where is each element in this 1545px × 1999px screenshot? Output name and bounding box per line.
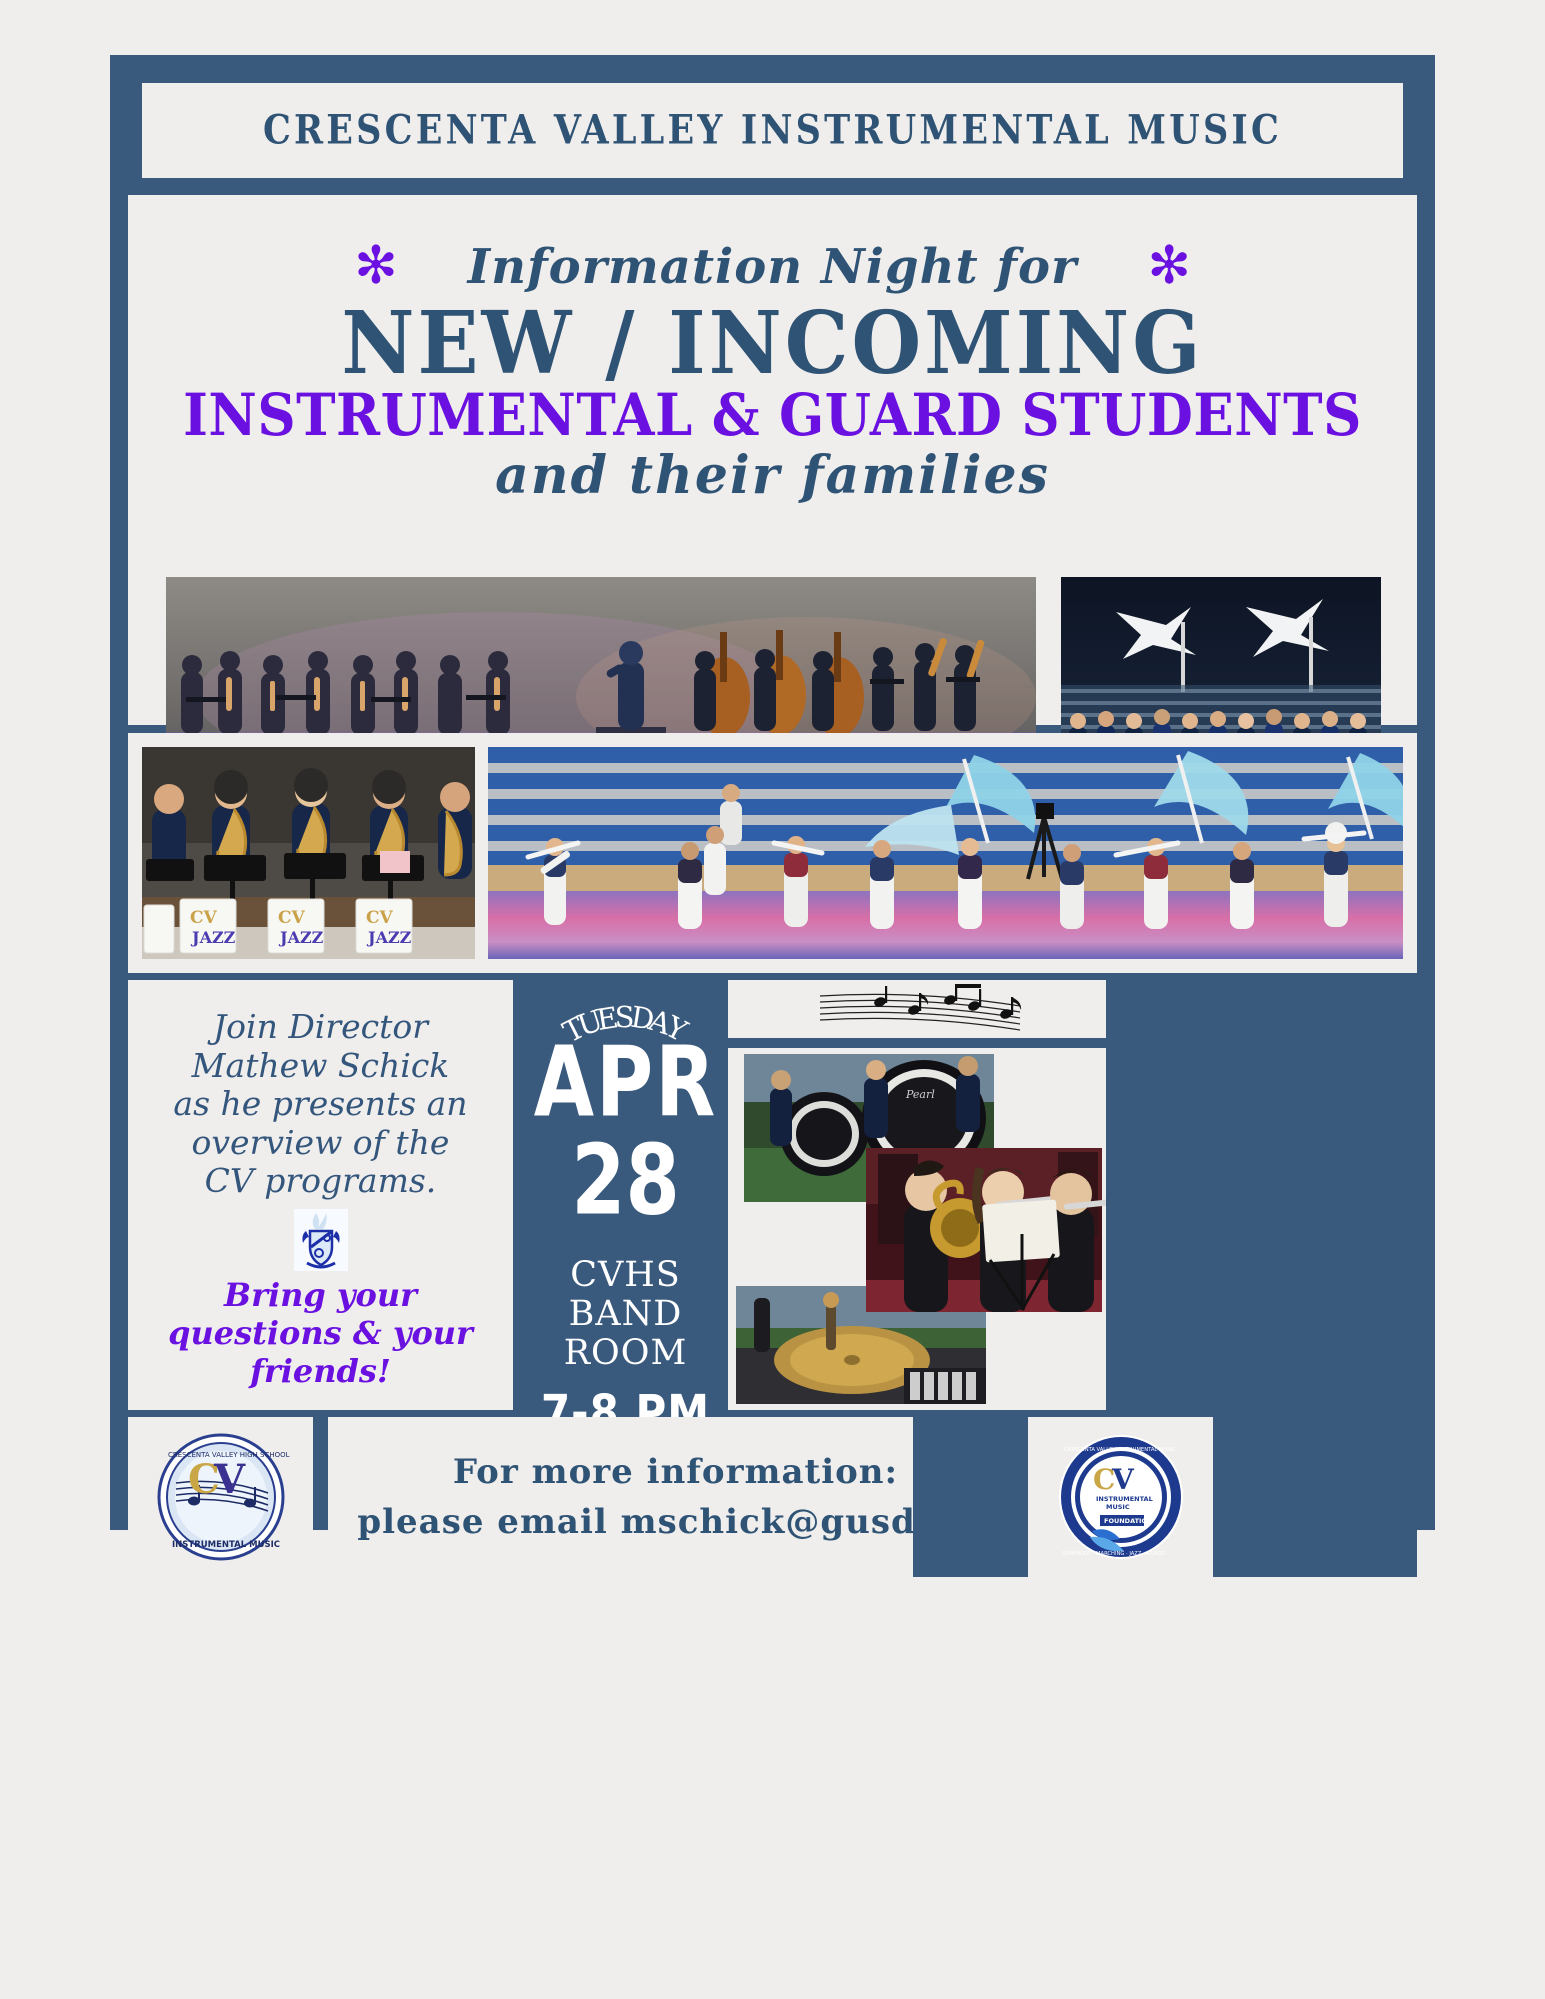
contact-line-1: For more information: xyxy=(453,1452,898,1492)
svg-text:JAZZ: JAZZ xyxy=(366,928,412,947)
join-director-block: Join Director Mathew Schick as he presen… xyxy=(128,980,513,1410)
eyebrow-text: Information Night for xyxy=(468,239,1078,295)
headline-primary: NEW / INCOMING xyxy=(128,300,1417,386)
page-title: CRESCENTA VALLEY INSTRUMENTAL MUSIC xyxy=(263,107,1282,154)
footer-right-panel: C V INSTRUMENTAL MUSIC FOUNDATION CRESCE… xyxy=(913,1417,1417,1577)
call-to-action-text: Bring your questions & your friends! xyxy=(168,1277,473,1390)
music-staff-graphic xyxy=(728,980,1106,1038)
footer: C V INSTRUMENTAL MUSIC CRESCENTA VALLEY … xyxy=(128,1417,1417,1577)
month-label: APR xyxy=(528,1037,723,1130)
svg-text:CRESCENTA VALLEY INSTRUMENTAL: CRESCENTA VALLEY INSTRUMENTAL MUSIC xyxy=(1064,1447,1176,1453)
woodwind-ensemble-photo xyxy=(866,1148,1106,1312)
title-block: ✻ Information Night for ✻ NEW / INCOMING… xyxy=(128,195,1417,725)
asterisk-left-icon: ✻ xyxy=(354,251,398,282)
svg-text:INSTRUMENTAL: INSTRUMENTAL xyxy=(1096,1495,1153,1503)
winter-guard-gym-photo xyxy=(488,747,1403,959)
headline-tertiary: and their families xyxy=(128,450,1417,502)
jazz-band-photo: CV JAZZ CV JAZZ CV JAZZ xyxy=(142,747,475,959)
date-block: TUESDAY APR 28 CVHS BAND ROOM 7-8 PM xyxy=(528,980,723,1410)
svg-text:FOUNDATION: FOUNDATION xyxy=(1104,1517,1152,1525)
svg-text:JAZZ: JAZZ xyxy=(278,928,324,947)
svg-text:CRESCENTA VALLEY HIGH SCHOOL: CRESCENTA VALLEY HIGH SCHOOL xyxy=(168,1451,290,1459)
join-director-text: Join Director Mathew Schick as he presen… xyxy=(173,1008,467,1201)
header-band: CRESCENTA VALLEY INSTRUMENTAL MUSIC xyxy=(142,83,1403,178)
photo-row-top xyxy=(166,577,1381,712)
flyer-poster: CRESCENTA VALLEY INSTRUMENTAL MUSIC ✻ In… xyxy=(110,55,1435,1530)
svg-text:CV: CV xyxy=(366,908,394,928)
lower-section: Join Director Mathew Schick as he presen… xyxy=(128,980,1417,1410)
photo-row-middle: CV JAZZ CV JAZZ CV JAZZ xyxy=(128,733,1417,973)
svg-text:JAZZ: JAZZ xyxy=(190,928,236,947)
eyebrow-row: ✻ Information Night for ✻ xyxy=(128,239,1417,295)
header-frame: CRESCENTA VALLEY INSTRUMENTAL MUSIC xyxy=(128,73,1417,188)
svg-text:MUSIC: MUSIC xyxy=(1106,1503,1130,1511)
photo-cluster: Pearl xyxy=(728,1048,1106,1410)
svg-text:Pearl: Pearl xyxy=(905,1088,935,1101)
cv-high-school-crest xyxy=(294,1209,348,1271)
asterisk-right-icon: ✻ xyxy=(1147,251,1191,282)
svg-text:V: V xyxy=(1111,1463,1135,1496)
cv-instrumental-music-logo: C V INSTRUMENTAL MUSIC CRESCENTA VALLEY … xyxy=(128,1417,313,1577)
svg-text:CV: CV xyxy=(190,908,218,928)
contact-line-2[interactable]: please email mschick@gusd.net xyxy=(357,1502,993,1542)
cv-instrumental-music-foundation-logo: C V INSTRUMENTAL MUSIC FOUNDATION CRESCE… xyxy=(1028,1417,1213,1577)
svg-text:V: V xyxy=(213,1456,246,1503)
svg-text:SYMPHONY · MARCHING · JAZZ · G: SYMPHONY · MARCHING · JAZZ · GUARD xyxy=(1062,1551,1165,1557)
svg-text:INSTRUMENTAL MUSIC: INSTRUMENTAL MUSIC xyxy=(172,1540,280,1550)
svg-text:CV: CV xyxy=(278,908,306,928)
headline-secondary: INSTRUMENTAL & GUARD STUDENTS xyxy=(128,386,1417,444)
venue-label: CVHS BAND ROOM xyxy=(528,1256,723,1374)
day-number: 28 xyxy=(528,1132,723,1230)
